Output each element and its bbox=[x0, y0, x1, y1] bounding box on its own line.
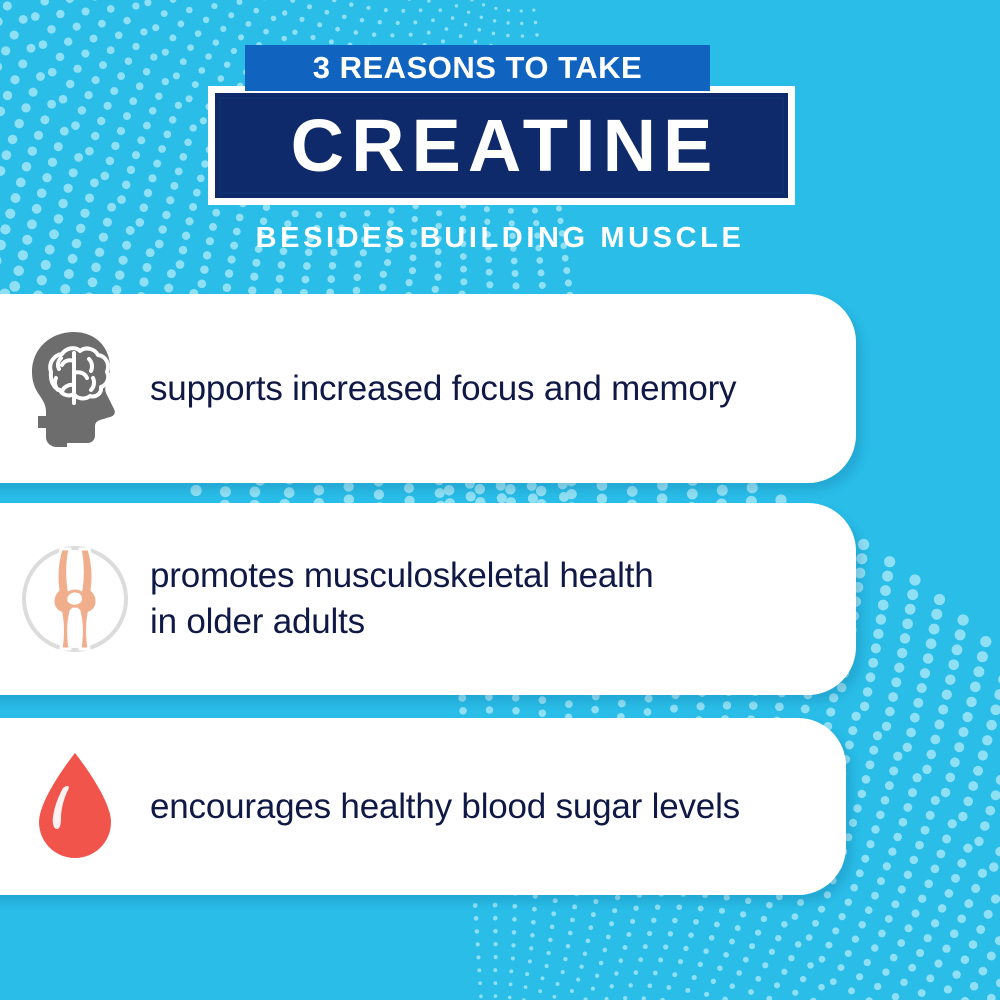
infographic-canvas: 3 REASONS TO TAKE CREATINE BESIDES BUILD… bbox=[0, 0, 1000, 1000]
title-box: CREATINE bbox=[208, 86, 795, 205]
eyebrow-banner: 3 REASONS TO TAKE bbox=[245, 45, 710, 91]
blood-drop-icon bbox=[33, 750, 117, 864]
benefit-text: promotes musculoskeletal health in older… bbox=[150, 553, 856, 645]
page-title: CREATINE bbox=[221, 99, 782, 192]
benefit-icon-slot bbox=[0, 750, 150, 864]
benefit-text: supports increased focus and memory bbox=[150, 366, 856, 412]
benefit-text-line: supports increased focus and memory bbox=[150, 366, 816, 412]
benefit-text: encourages healthy blood sugar levels bbox=[150, 784, 846, 830]
benefit-text-line: promotes musculoskeletal health bbox=[150, 553, 816, 599]
benefit-text-line: in older adults bbox=[150, 599, 816, 645]
benefit-icon-slot bbox=[0, 328, 150, 450]
benefit-card: promotes musculoskeletal health in older… bbox=[0, 503, 856, 695]
title-box-inner-border: CREATINE bbox=[219, 97, 784, 194]
knee-joint-icon bbox=[14, 538, 136, 660]
benefit-card: supports increased focus and memory bbox=[0, 294, 856, 483]
subtitle: BESIDES BUILDING MUSCLE bbox=[0, 222, 1000, 255]
benefit-text-line: encourages healthy blood sugar levels bbox=[150, 784, 806, 830]
benefit-card: encourages healthy blood sugar levels bbox=[0, 718, 846, 895]
header: 3 REASONS TO TAKE CREATINE BESIDES BUILD… bbox=[0, 0, 1000, 280]
benefit-icon-slot bbox=[0, 538, 150, 660]
brain-head-icon bbox=[19, 328, 131, 450]
eyebrow-text: 3 REASONS TO TAKE bbox=[245, 45, 710, 91]
